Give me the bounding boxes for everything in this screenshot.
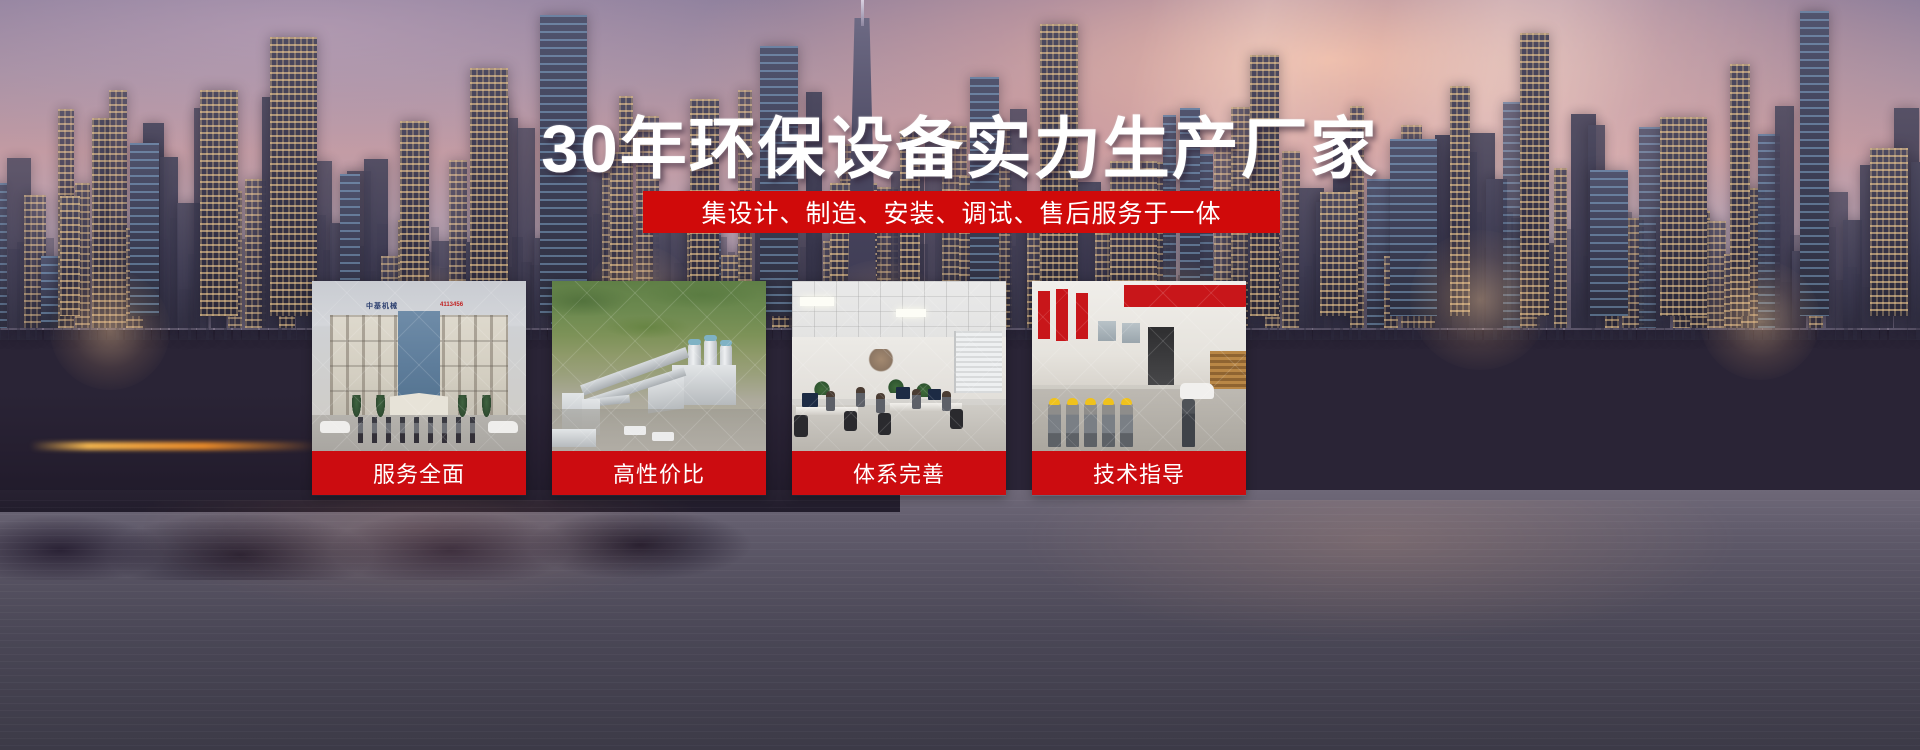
bridge-lights	[30, 442, 320, 450]
feature-card[interactable]: 高性价比	[552, 281, 766, 496]
office-building-photo: 中基机械 4113456	[312, 281, 526, 451]
subtitle-banner: 集设计、制造、安装、调试、售后服务于一体	[643, 191, 1280, 233]
card-label-guidance: 技术指导	[1032, 451, 1246, 495]
card-photo-service: 中基机械 4113456	[312, 281, 526, 451]
feature-card[interactable]: 技术指导	[1032, 281, 1246, 496]
hero-banner: 30年环保设备实力生产厂家 集设计、制造、安装、调试、售后服务于一体 中基机械 …	[0, 0, 1920, 750]
card-photo-guidance	[1032, 281, 1246, 451]
card-photo-value	[552, 281, 766, 451]
water-reflections	[0, 500, 1920, 750]
subtitle-text: 集设计、制造、安装、调试、售后服务于一体	[701, 194, 1221, 230]
skyline-building	[1707, 221, 1726, 328]
feature-card-list: 中基机械 4113456	[312, 281, 1248, 496]
card-label-value: 高性价比	[552, 451, 766, 495]
tower-spire	[861, 0, 864, 26]
card-photo-system	[792, 281, 1006, 451]
card-label-system: 体系完善	[792, 451, 1006, 495]
skyline-building	[1320, 192, 1358, 316]
card-label-service: 服务全面	[312, 451, 526, 495]
factory-workshop-photo	[1032, 281, 1246, 451]
building-phone-text: 4113456	[440, 302, 463, 308]
office-interior-photo	[792, 281, 1006, 451]
feature-card[interactable]: 中基机械 4113456	[312, 281, 526, 496]
skyline-building	[60, 196, 80, 316]
building-sign-text: 中基机械	[366, 301, 398, 311]
page-title: 30年环保设备实力生产厂家	[0, 95, 1920, 192]
feature-card[interactable]: 体系完善	[792, 281, 1006, 496]
industrial-plant-photo	[552, 281, 766, 451]
